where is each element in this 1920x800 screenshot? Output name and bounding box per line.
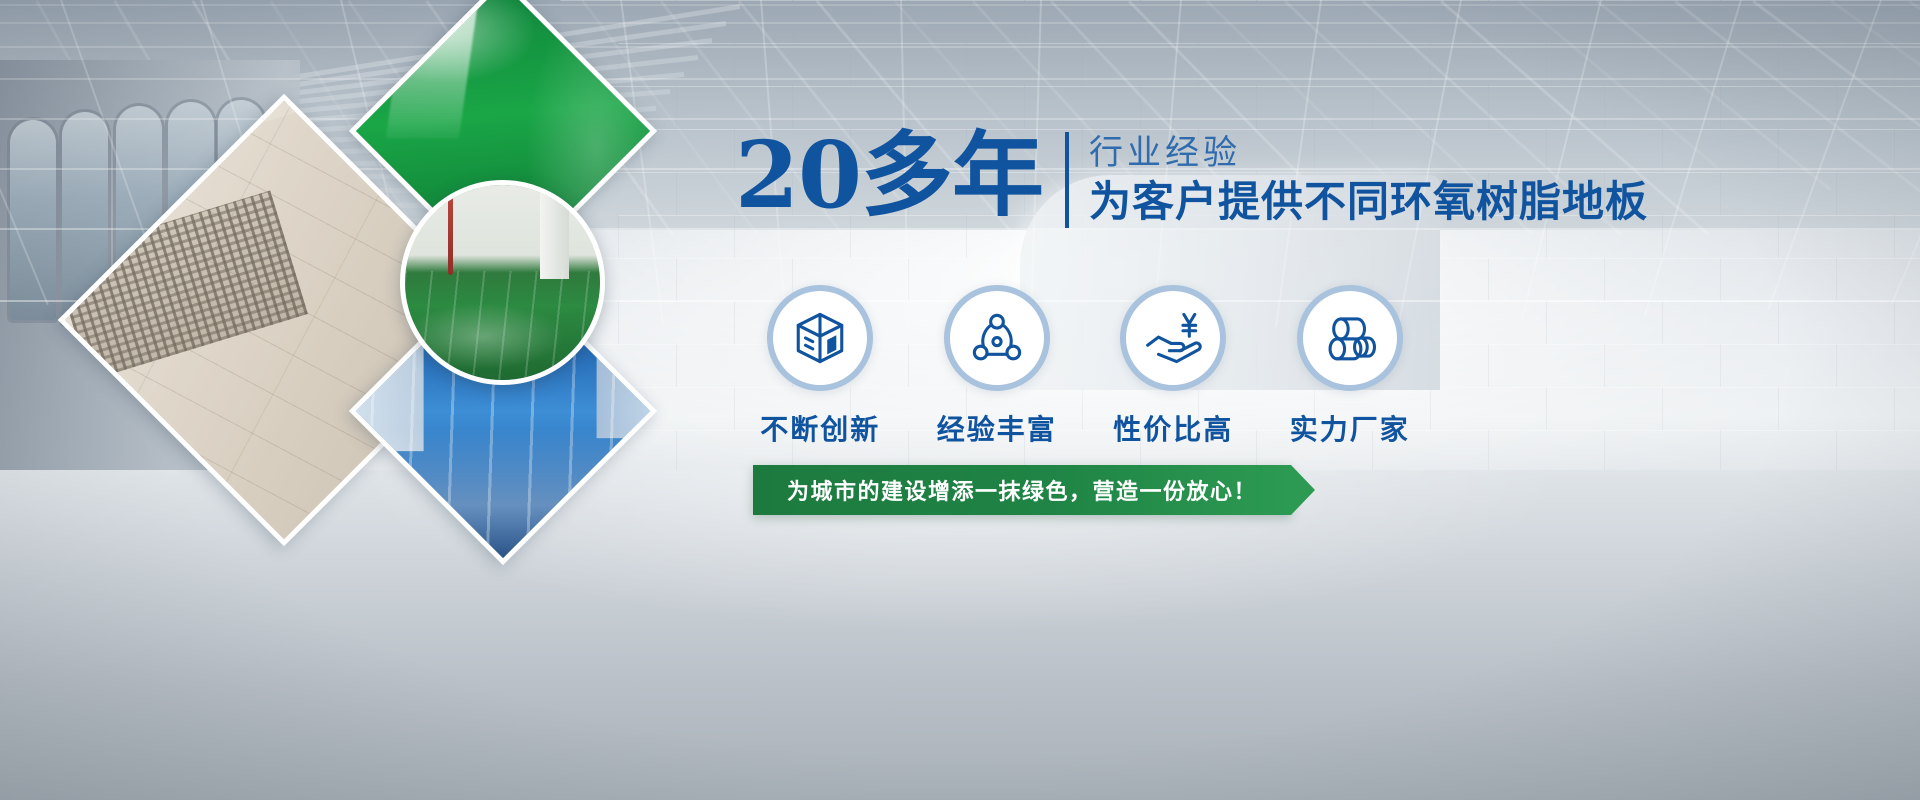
banner-stage: 20多年 行业经验 为客户提供不同环氧树脂地板 xyxy=(0,0,1920,800)
feature-icon-circle xyxy=(1297,285,1403,391)
green-ribbon: 为城市的建设增添一抹绿色，营造一份放心！ xyxy=(753,465,1291,515)
cube-box-icon xyxy=(791,309,849,367)
feature-item-value[interactable]: 性价比高 xyxy=(1098,285,1249,448)
feature-icon-circle xyxy=(944,285,1050,391)
headline-divider xyxy=(1065,132,1069,228)
feature-item-innovation[interactable]: 不断创新 xyxy=(745,285,896,448)
banner-content: 20多年 行业经验 为客户提供不同环氧树脂地板 xyxy=(735,120,1895,540)
feature-label: 性价比高 xyxy=(1098,408,1249,448)
hand-yuan-icon xyxy=(1144,309,1202,367)
molecule-group-icon xyxy=(968,309,1026,367)
feature-label: 经验丰富 xyxy=(922,408,1073,448)
years-number: 20多年 xyxy=(735,120,1043,230)
feature-label: 不断创新 xyxy=(745,408,896,448)
photo-collage xyxy=(112,10,752,650)
subtitle-line-1: 行业经验 xyxy=(1089,130,1648,176)
feature-item-factory[interactable]: 实力厂家 xyxy=(1275,285,1426,448)
collage-circle-photo xyxy=(400,180,605,385)
material-rolls-icon xyxy=(1321,309,1379,367)
feature-item-experience[interactable]: 经验丰富 xyxy=(922,285,1073,448)
subtitle-line-2: 为客户提供不同环氧树脂地板 xyxy=(1089,176,1648,228)
feature-icon-circle xyxy=(1120,285,1226,391)
headline-subtitles: 行业经验 为客户提供不同环氧树脂地板 xyxy=(1089,120,1648,228)
feature-list: 不断创新 经验丰富 xyxy=(745,285,1425,448)
feature-icon-circle xyxy=(767,285,873,391)
headline-block: 20多年 行业经验 为客户提供不同环氧树脂地板 xyxy=(735,120,1895,245)
feature-label: 实力厂家 xyxy=(1275,408,1426,448)
ribbon-text: 为城市的建设增添一抹绿色，营造一份放心！ xyxy=(787,474,1257,506)
